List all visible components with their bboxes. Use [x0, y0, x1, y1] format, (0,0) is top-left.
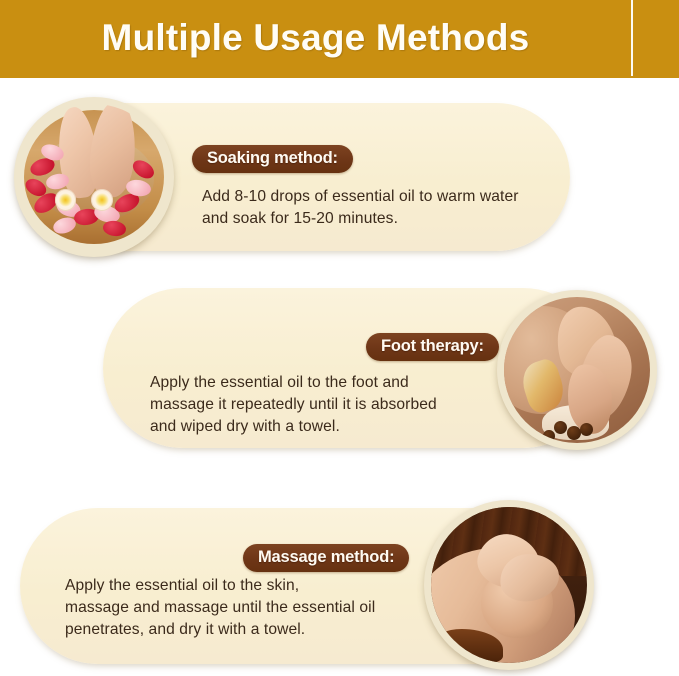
- header-band: Multiple Usage Methods: [0, 0, 679, 78]
- photo-2-spice-seed: [580, 423, 593, 436]
- usage-card-soaking-badge: Soaking method:: [192, 145, 353, 173]
- photo-1-inner: [21, 104, 167, 250]
- photo-2-inner: [504, 297, 650, 443]
- usage-card-foot-therapy-badge: Foot therapy:: [366, 333, 499, 361]
- photo-2-spice-seed: [554, 421, 567, 434]
- photo-2-spice-seed: [543, 430, 555, 442]
- header-vertical-divider: [631, 0, 633, 76]
- usage-card-massage-badge: Massage method:: [243, 544, 409, 572]
- page-title: Multiple Usage Methods: [0, 0, 631, 76]
- feet-soaking-in-flower-petal-bowl-photo: [14, 97, 174, 257]
- usage-card-foot-therapy-body: Apply the essential oil to the foot and …: [150, 372, 510, 438]
- usage-card-soaking-body: Add 8-10 drops of essential oil to warm …: [202, 186, 582, 230]
- usage-card-massage-body: Apply the essential oil to the skin, mas…: [65, 575, 455, 641]
- photo-1-plumeria-flower: [55, 189, 77, 211]
- photo-1-plumeria-flower: [91, 189, 113, 211]
- foot-reflexology-massage-photo: [497, 290, 657, 450]
- usage-methods-infographic: Multiple Usage Methods: [0, 0, 679, 676]
